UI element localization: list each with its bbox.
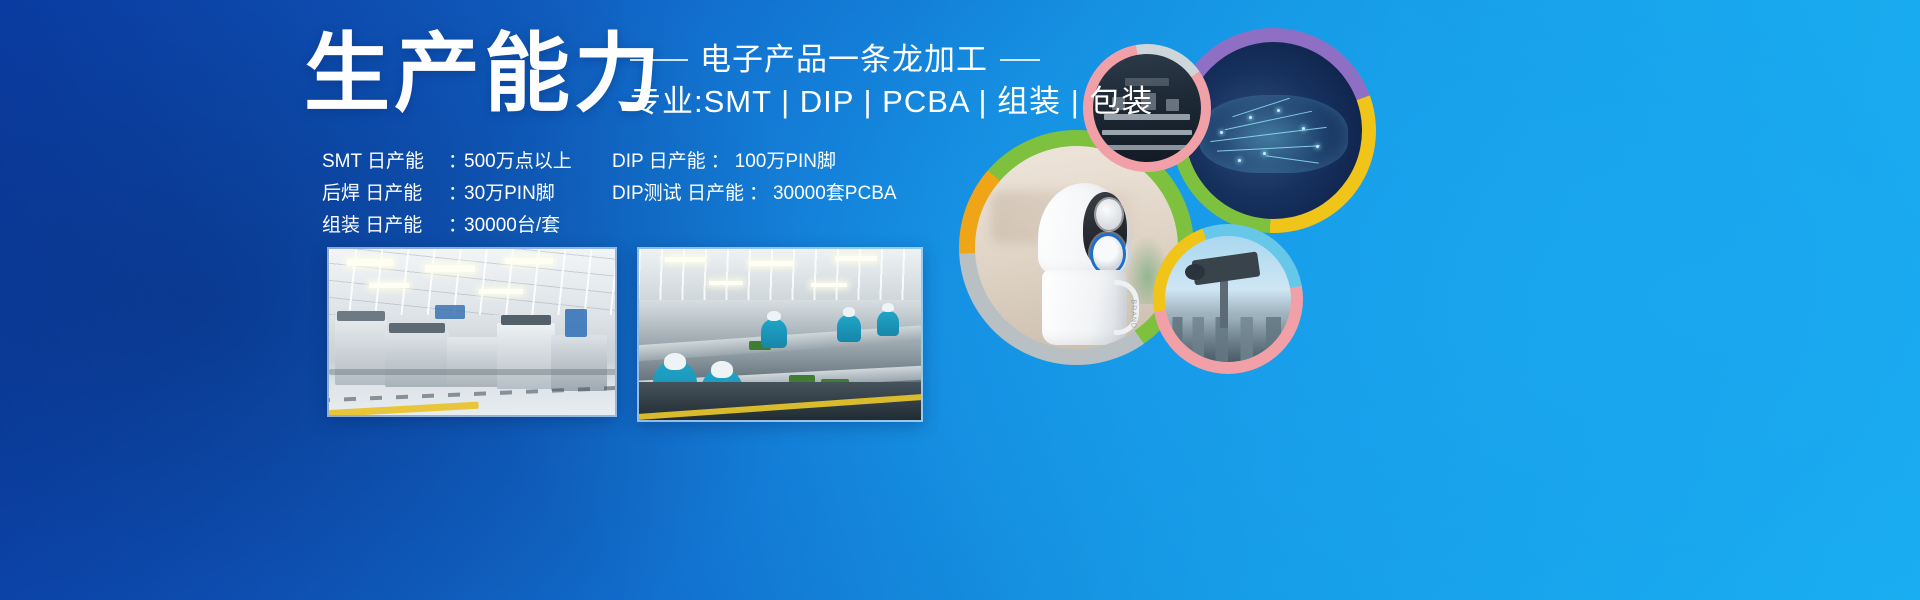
subtitle-group: 电子产品一条龙加工 专业:SMT | DIP | PCBA | 组装 | 包装 [630, 40, 1110, 122]
smart-car-image [1185, 42, 1362, 219]
stat-value: 500万点以上 [464, 146, 572, 178]
dash-left-decoration [630, 59, 688, 61]
smt-machine [551, 335, 607, 391]
stat-value: 30000台/套 [464, 210, 560, 242]
worker-uniform [877, 311, 899, 336]
smt-machine-top [337, 311, 385, 321]
dash-right-decoration [1000, 59, 1040, 61]
ceiling-lamp [347, 259, 393, 266]
ceiling-lamp [835, 256, 877, 261]
subtitle-main: 电子产品一条龙加工 [700, 43, 988, 77]
machine-base-line [329, 369, 617, 375]
stat-label: DIP测试 日产能 [612, 178, 744, 210]
page-title: 生产能力 [304, 26, 664, 122]
camera-pole [1220, 278, 1228, 328]
smt-machine-top [501, 315, 551, 325]
stat-colon: ： [706, 146, 735, 178]
stat-label: SMT 日产能 [322, 146, 448, 178]
city-skyline [1165, 317, 1291, 362]
assembly-line-photo [637, 247, 923, 422]
rack-shelf [1106, 145, 1188, 150]
ceiling-lamp [505, 258, 553, 264]
stat-row: DIP测试 日产能 ： 30000套PCBA [612, 178, 897, 210]
machine-screen [565, 309, 587, 337]
rack-module [1166, 99, 1179, 111]
worker-uniform [837, 315, 861, 342]
ceiling-lamp [665, 257, 705, 262]
worker-cap [882, 303, 893, 312]
stat-row: 后焊 日产能 ： 30万PIN脚 [322, 178, 612, 210]
smt-cleanroom-photo [327, 247, 617, 417]
ceiling-lamp [369, 283, 409, 288]
ceiling-lamp [479, 289, 523, 294]
node-dot [1302, 127, 1305, 130]
stat-row: 组装 日产能 ： 30000台/套 [322, 210, 612, 242]
worker-cap [711, 361, 733, 378]
machine-screen [435, 305, 465, 319]
stat-value: 30000套PCBA [773, 178, 897, 210]
fryer-knob [1096, 199, 1121, 230]
stat-value: 30万PIN脚 [464, 178, 555, 210]
worker-figure [877, 303, 899, 333]
worker-uniform [761, 319, 787, 348]
air-fryer-image: BRAND [975, 146, 1178, 349]
smt-machine-top [389, 323, 445, 333]
fryer-brand-label: BRAND [1129, 299, 1136, 329]
worker-cap [767, 311, 781, 321]
smt-machine [497, 323, 555, 389]
stat-label: 组装 日产能 [322, 210, 448, 242]
stat-colon: ： [448, 178, 464, 210]
production-capacity-banner: 生产能力 电子产品一条龙加工 专业:SMT | DIP | PCBA | 组装 … [0, 0, 1920, 600]
smt-machine [335, 319, 387, 385]
stat-colon: ： [744, 178, 773, 210]
worker-figure [837, 307, 861, 339]
node-dot [1238, 159, 1241, 162]
ceiling-lamp [425, 265, 475, 272]
capability-column-left: SMT 日产能 ： 500万点以上 后焊 日产能 ： 30万PIN脚 组装 日产… [322, 146, 612, 242]
ceiling-lamp [749, 261, 793, 266]
stat-label: DIP 日产能 [612, 146, 706, 178]
circle-security-camera [1153, 224, 1303, 374]
smt-machine [447, 337, 501, 387]
subtitle-main-row: 电子产品一条龙加工 [630, 40, 1110, 80]
stat-value: 100万PIN脚 [735, 146, 836, 178]
node-dot [1316, 145, 1319, 148]
smt-machine [385, 331, 449, 387]
subtitle-services: 专业:SMT | DIP | PCBA | 组装 | 包装 [630, 82, 1110, 122]
stat-row: DIP 日产能 ： 100万PIN脚 [612, 146, 897, 178]
ceiling-lamp [709, 281, 743, 285]
capability-stats: SMT 日产能 ： 500万点以上 后焊 日产能 ： 30万PIN脚 组装 日产… [322, 146, 897, 242]
worker-figure [761, 311, 787, 345]
fryer-dial [1093, 236, 1122, 272]
banner-heading-group: 生产能力 电子产品一条龙加工 专业:SMT | DIP | PCBA | 组装 … [300, 18, 1120, 128]
worker-cap [843, 307, 855, 317]
rack-shelf [1102, 130, 1193, 135]
capability-column-right: DIP 日产能 ： 100万PIN脚 DIP测试 日产能 ： 30000套PCB… [612, 146, 897, 242]
stat-colon: ： [448, 210, 464, 242]
stat-colon: ： [448, 146, 464, 178]
security-camera-image [1165, 236, 1291, 362]
stat-row: SMT 日产能 ： 500万点以上 [322, 146, 612, 178]
stat-label: 后焊 日产能 [322, 178, 448, 210]
ceiling-lamp [811, 283, 847, 287]
worker-cap [664, 353, 687, 370]
air-fryer-product: BRAND [1036, 183, 1133, 345]
node-dot [1263, 152, 1266, 155]
